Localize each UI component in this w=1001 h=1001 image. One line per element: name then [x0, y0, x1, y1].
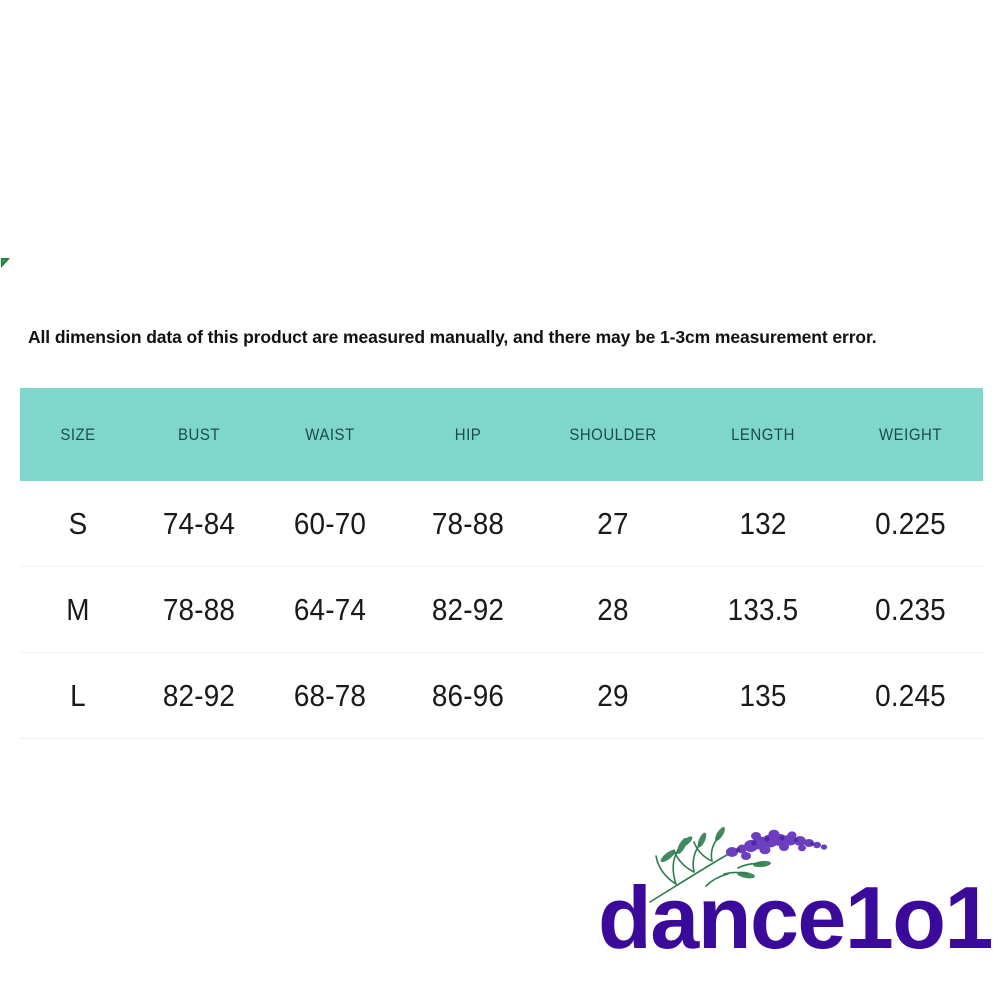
cell-size: S — [26, 481, 130, 567]
column-header-waist: WAIST — [270, 388, 390, 481]
cell-weight: 0.245 — [845, 653, 976, 739]
cell-length: 133.5 — [696, 567, 831, 653]
cell-hip: 86-96 — [405, 653, 531, 739]
table-row: M 78-88 64-74 82-92 28 133.5 0.235 — [20, 567, 983, 653]
cell-hip: 78-88 — [405, 481, 531, 567]
cell-shoulder: 27 — [546, 481, 681, 567]
column-header-bust: BUST — [144, 388, 255, 481]
table-row: S 74-84 60-70 78-88 27 132 0.225 — [20, 481, 983, 567]
cell-size: M — [26, 567, 130, 653]
size-chart-table: SIZE BUST WAIST HIP SHOULDER LENGTH WEIG… — [20, 388, 983, 739]
brand-name-text: dance1o1 — [598, 874, 992, 962]
table-row: L 82-92 68-78 86-96 29 135 0.245 — [20, 653, 983, 739]
leaf-fragment-artifact — [0, 256, 12, 270]
column-header-size: SIZE — [27, 388, 129, 481]
cell-waist: 68-78 — [269, 653, 391, 739]
cell-bust: 78-88 — [142, 567, 255, 653]
column-header-length: LENGTH — [697, 388, 829, 481]
column-header-weight: WEIGHT — [847, 388, 975, 481]
cell-bust: 82-92 — [142, 653, 255, 739]
brand-watermark: dance1o1 — [598, 812, 1001, 972]
cell-hip: 82-92 — [405, 567, 531, 653]
table-body: S 74-84 60-70 78-88 27 132 0.225 M 78-88… — [20, 481, 983, 739]
column-header-hip: HIP — [406, 388, 529, 481]
cell-length: 132 — [696, 481, 831, 567]
cell-shoulder: 29 — [546, 653, 681, 739]
cell-waist: 64-74 — [269, 567, 391, 653]
cell-weight: 0.235 — [845, 567, 976, 653]
cell-shoulder: 28 — [546, 567, 681, 653]
cell-bust: 74-84 — [142, 481, 255, 567]
cell-waist: 60-70 — [269, 481, 391, 567]
cell-weight: 0.225 — [845, 481, 976, 567]
cell-length: 135 — [696, 653, 831, 739]
table-header: SIZE BUST WAIST HIP SHOULDER LENGTH WEIG… — [20, 388, 983, 481]
column-header-shoulder: SHOULDER — [547, 388, 679, 481]
table-header-row: SIZE BUST WAIST HIP SHOULDER LENGTH WEIG… — [20, 388, 983, 481]
measurement-disclaimer: All dimension data of this product are m… — [28, 327, 968, 348]
cell-size: L — [26, 653, 130, 739]
